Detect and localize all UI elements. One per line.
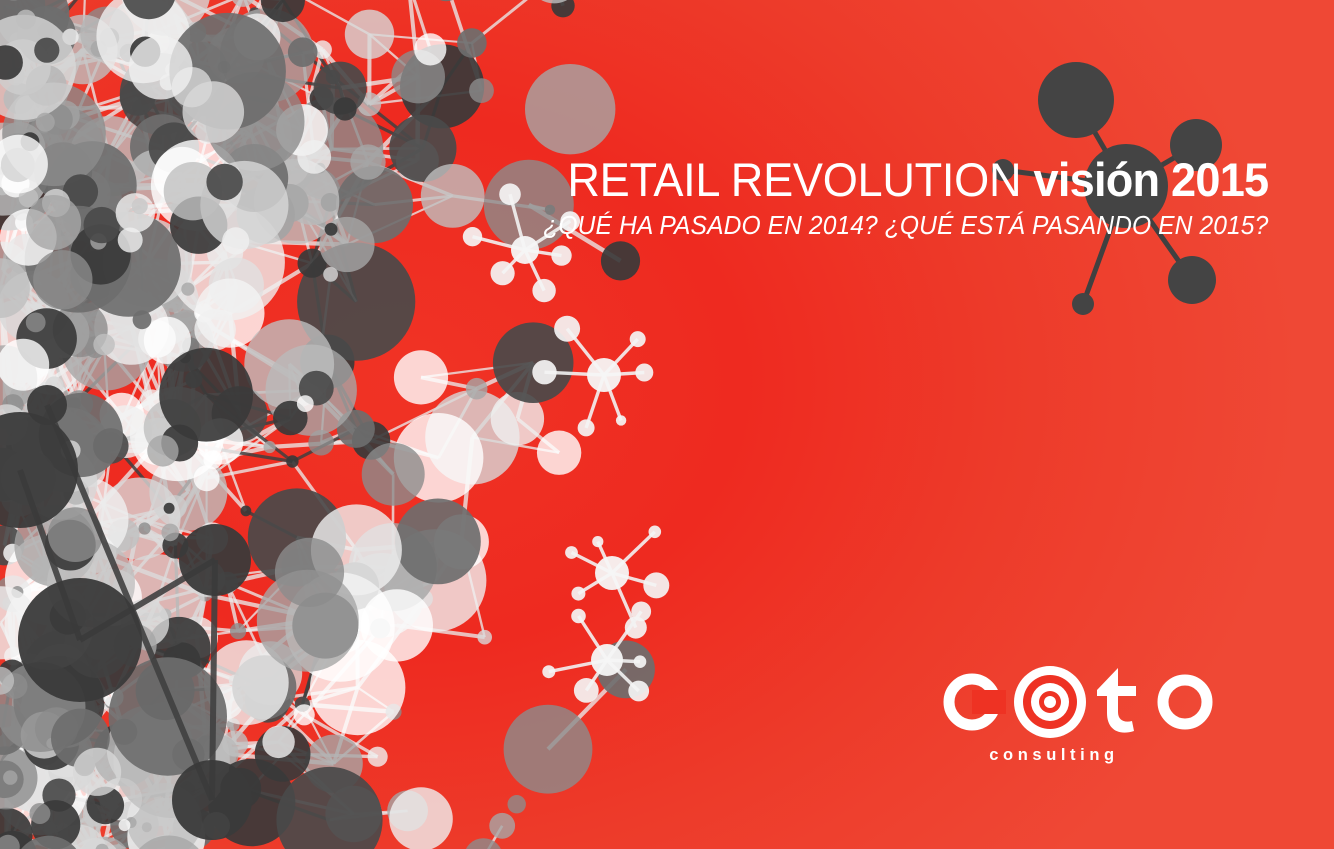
- slide-root: RETAIL REVOLUTION visión 2015 ¿QUÉ HA PA…: [0, 0, 1334, 849]
- page-title: RETAIL REVOLUTION visión 2015: [547, 156, 1268, 203]
- cluster-satellite-node: [1168, 256, 1216, 304]
- cluster-satellite-node: [1072, 293, 1094, 315]
- title-block: RETAIL REVOLUTION visión 2015 ¿QUÉ HA PA…: [517, 156, 1268, 240]
- logo-letter-c: [949, 679, 1006, 725]
- cluster-satellite-node: [1038, 62, 1114, 138]
- logo-letter-o: [1163, 680, 1207, 724]
- logo-letter-t: [1097, 668, 1136, 733]
- headline-bold-part: visión 2015: [1033, 153, 1268, 206]
- logo-tagline: consulting: [940, 746, 1168, 765]
- coto-wordmark-icon: [940, 660, 1240, 740]
- logo-letter-o-target: [1014, 666, 1086, 738]
- page-subtitle: ¿QUÉ HA PASADO EN 2014? ¿QUÉ ESTÁ PASAND…: [543, 214, 1268, 240]
- headline-light-part: RETAIL REVOLUTION: [567, 153, 1021, 206]
- brand-logo: consulting: [940, 660, 1240, 765]
